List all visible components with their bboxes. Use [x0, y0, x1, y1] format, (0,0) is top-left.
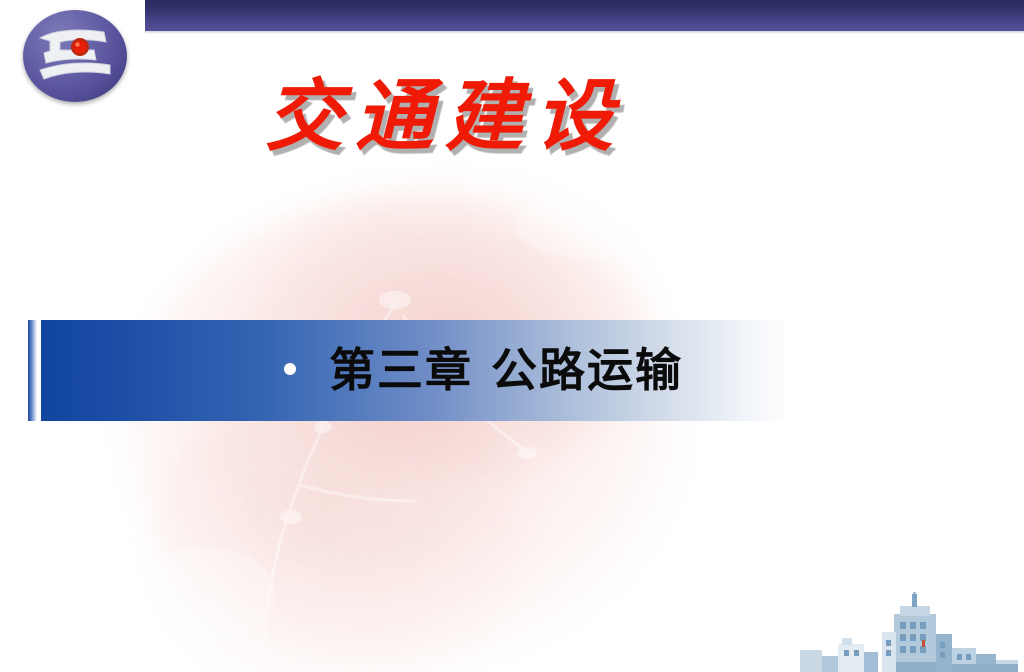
presentation-slide: 交通建设 第三章 公路运输: [0, 0, 1024, 672]
header-bar-highlight: [145, 31, 1024, 34]
bullet-point-icon: [284, 363, 296, 375]
header-bar: [145, 0, 1024, 31]
chapter-banner-edge: [28, 320, 37, 421]
city-skyline-graphic: [794, 592, 1024, 672]
logo-glyph-icon: [20, 8, 130, 104]
chapter-banner-label: 第三章 公路运输: [329, 339, 683, 402]
watermark-blob-primary: [125, 195, 685, 665]
chapter-banner[interactable]: 第三章 公路运输: [41, 320, 785, 421]
organization-logo: [20, 8, 130, 104]
page-title: 交通建设: [265, 78, 625, 156]
